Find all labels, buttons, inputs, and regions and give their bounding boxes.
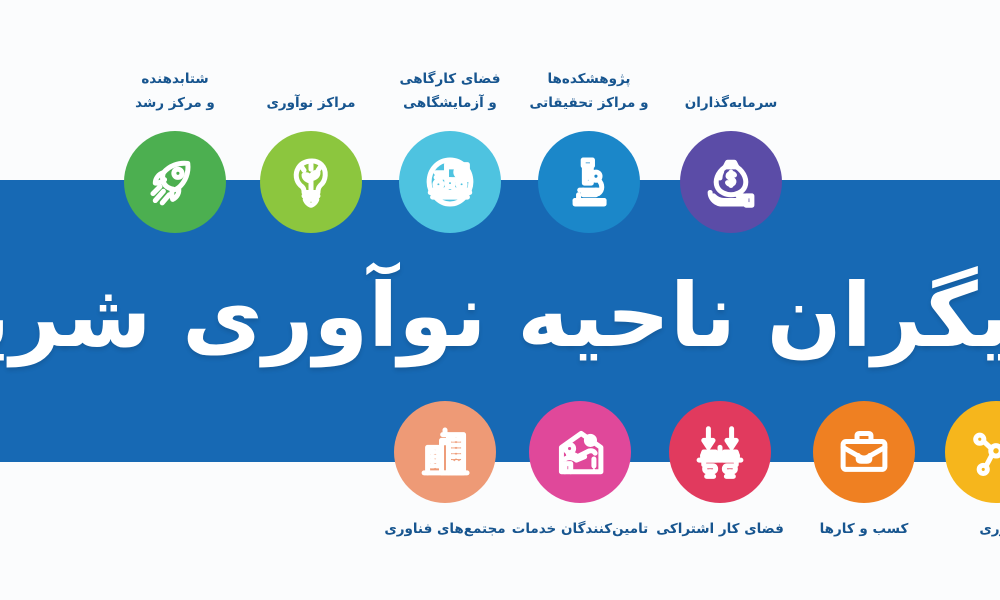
node-label-businesses: کسب و کارها <box>789 517 939 541</box>
node-label-accelerator-incubator: شتابدهندهو مرکز رشد <box>100 67 250 115</box>
node-label-technology-complexes: مجتمع‌های فناوری <box>370 517 520 541</box>
node-label-innovation-network: آوری <box>921 517 1000 541</box>
rocket-icon <box>146 153 204 211</box>
node-label-line1: شتابدهنده <box>100 67 250 91</box>
node-label-line1: فضای کار اشتراکی <box>645 517 795 541</box>
node-circle-workshop-lab-space[interactable] <box>399 131 501 233</box>
node-circle-research-institutes[interactable] <box>538 131 640 233</box>
coworking-desks-icon <box>691 423 749 481</box>
node-label-research-institutes: پژوهشکده‌هاو مراکز تحقیقاتی <box>514 67 664 115</box>
briefcase-icon <box>835 423 893 481</box>
node-label-line1: فضای کارگاهی <box>375 67 525 91</box>
microscope-icon <box>560 153 618 211</box>
node-label-line2: و آزمایشگاهی <box>375 91 525 115</box>
node-label-line1: کسب و کارها <box>789 517 939 541</box>
lightbulb-plant-icon <box>282 153 340 211</box>
buildings-icon <box>416 423 474 481</box>
node-label-line1: مراکز نوآوری <box>236 91 386 115</box>
node-label-line2: و مرکز رشد <box>100 91 250 115</box>
node-circle-businesses[interactable] <box>813 401 915 503</box>
node-circle-accelerator-incubator[interactable] <box>124 131 226 233</box>
network-nodes-icon <box>967 423 1000 481</box>
node-label-coworking-space: فضای کار اشتراکی <box>645 517 795 541</box>
node-label-service-providers: تامین‌کنندگان خدمات <box>505 517 655 541</box>
node-circle-technology-complexes[interactable] <box>394 401 496 503</box>
money-bag-hand-icon <box>702 153 760 211</box>
node-label-line1: سرمایه‌گذاران <box>656 91 806 115</box>
node-label-line1: تامین‌کنندگان خدمات <box>505 517 655 541</box>
node-circle-investors[interactable] <box>680 131 782 233</box>
node-label-line1: مجتمع‌های فناوری <box>370 517 520 541</box>
node-circle-service-providers[interactable] <box>529 401 631 503</box>
node-label-line1: آوری <box>921 517 1000 541</box>
node-circle-coworking-space[interactable] <box>669 401 771 503</box>
node-label-investors: سرمایه‌گذاران <box>656 91 806 115</box>
node-label-workshop-lab-space: فضای کارگاهیو آزمایشگاهی <box>375 67 525 115</box>
workshop-presentation-icon <box>421 153 479 211</box>
node-label-innovation-centers: مراکز نوآوری <box>236 91 386 115</box>
node-circle-innovation-centers[interactable] <box>260 131 362 233</box>
node-label-line2: و مراکز تحقیقاتی <box>514 91 664 115</box>
handshake-helping-icon <box>551 423 609 481</box>
node-label-line1: پژوهشکده‌ها <box>514 67 664 91</box>
infographic-canvas: بازیگران ناحیه نوآوری شریف شتابدهندهو مر… <box>0 0 1000 600</box>
